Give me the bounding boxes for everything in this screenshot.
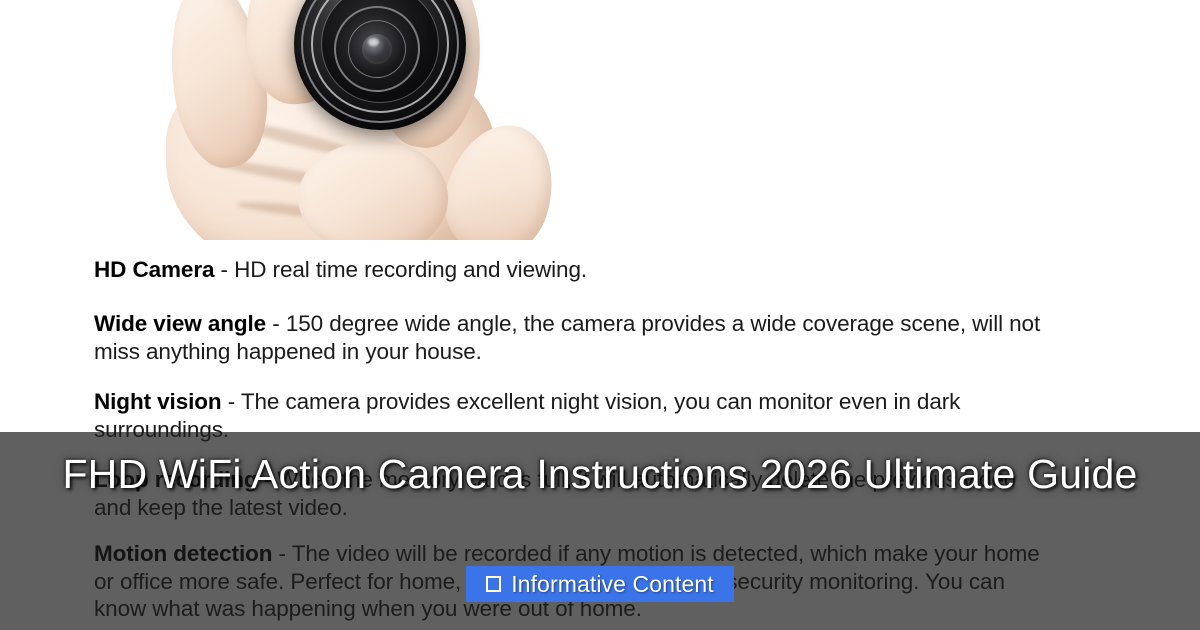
feature-separator: - <box>214 257 234 282</box>
feature-term: HD Camera <box>94 257 214 282</box>
feature-separator: - <box>266 311 286 336</box>
badge-row: Informative Content <box>0 566 1200 602</box>
feature-hd-camera: HD Camera - HD real time recording and v… <box>94 256 1054 284</box>
status-badge: Informative Content <box>466 566 734 602</box>
missing-glyph-box-icon <box>486 576 501 592</box>
page-title: FHD WiFi Action Camera Instructions 2026… <box>0 447 1200 501</box>
feature-text: HD real time recording and viewing. <box>234 257 587 282</box>
feature-term: Night vision <box>94 389 222 414</box>
lens-highlight <box>368 38 379 46</box>
feature-separator: - <box>222 389 241 414</box>
feature-term: Wide view angle <box>94 311 266 336</box>
hand-holding-mini-camera-photo <box>148 0 562 240</box>
feature-wide-view-angle: Wide view angle - 150 degree wide angle,… <box>94 310 1054 365</box>
social-share-card: HD Camera - HD real time recording and v… <box>0 0 1200 630</box>
status-badge-label: Informative Content <box>511 566 714 602</box>
